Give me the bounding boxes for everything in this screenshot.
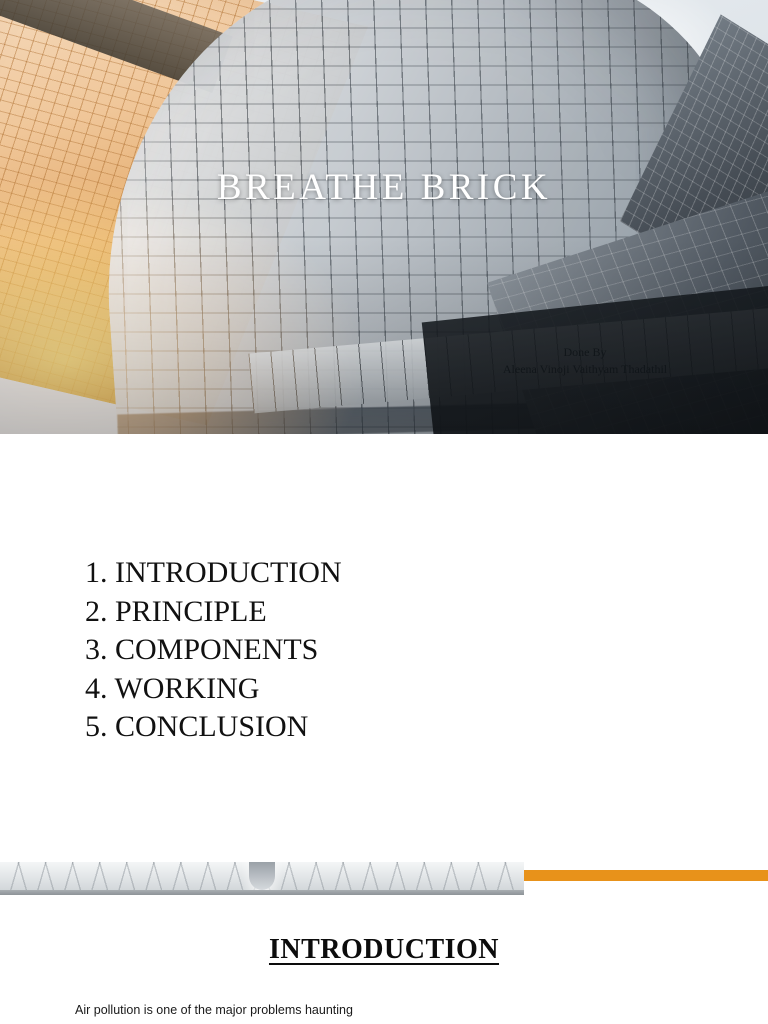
contents-list: 1. INTRODUCTION 2. PRINCIPLE 3. COMPONEN… [85, 554, 342, 747]
section-heading: INTRODUCTION [0, 934, 768, 966]
presentation-document: BREATHE BRICK Done By Aleena Vinoji Vait… [0, 0, 768, 1024]
list-item: 4. WORKING [85, 670, 342, 709]
list-item: 3. COMPONENTS [85, 631, 342, 670]
author-name: Aleena Vinoji Vaithyam Thadathil [470, 361, 700, 378]
author-credit: Done By Aleena Vinoji Vaithyam Thadathil [470, 344, 700, 379]
list-item: 2. PRINCIPLE [85, 593, 342, 632]
page-title: BREATHE BRICK [0, 166, 768, 209]
banner-base-strip [0, 890, 524, 895]
introduction-slide: INTRODUCTION Air pollution is one of the… [0, 862, 768, 1024]
accent-rule [524, 870, 768, 881]
banner-image [0, 862, 524, 895]
list-item: 1. INTRODUCTION [85, 554, 342, 593]
title-slide: BREATHE BRICK Done By Aleena Vinoji Vait… [0, 0, 768, 434]
credit-label: Done By [470, 344, 700, 361]
list-item: 5. CONCLUSION [85, 708, 342, 747]
table-of-contents-slide: 1. INTRODUCTION 2. PRINCIPLE 3. COMPONEN… [0, 434, 768, 862]
section-heading-text: INTRODUCTION [269, 934, 499, 965]
body-paragraph: Air pollution is one of the major proble… [75, 1002, 505, 1019]
